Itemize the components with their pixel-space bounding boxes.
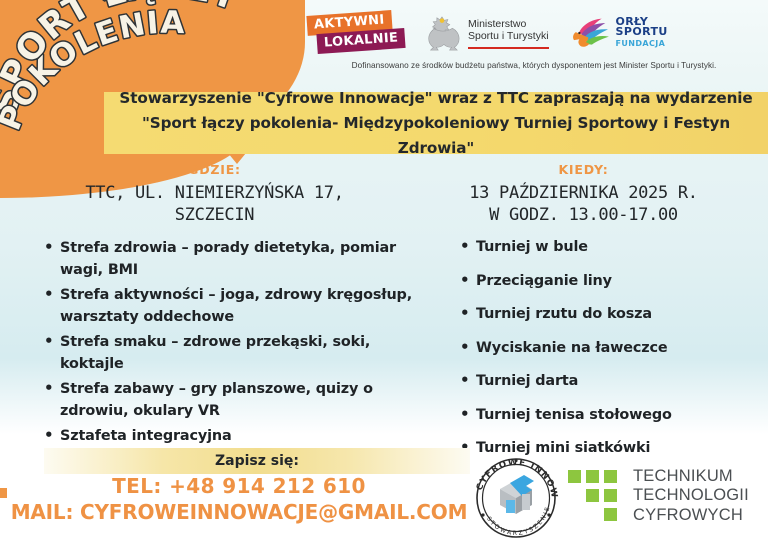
ministry-name: Ministerstwo Sportu i Turystyki xyxy=(468,18,549,49)
where-value: TTC, UL. NIEMIERZYŃSKA 17, SZCZECIN xyxy=(30,182,399,226)
zone-list-item: Sztafeta integracyjna xyxy=(44,426,438,448)
tournament-list-item: Turniej darta xyxy=(460,372,768,391)
colorful-eagle-icon xyxy=(571,16,611,50)
ministry-line-2: Sportu i Turystyki xyxy=(468,30,549,42)
when-value: 13 PAŹDZIERNIKA 2025 R. W GODZ. 13.00-17… xyxy=(399,182,768,226)
poster-canvas: SPORT ŁĄCZY POKOLENIA AKTYWNI LOKALNIE M… xyxy=(0,0,768,543)
footer-logo-row: CYFROWE INNOWACJE STOWARZYSZENIE xyxy=(470,452,768,540)
tournaments-column: Turniej w bulePrzeciąganie linyTurniej r… xyxy=(438,238,768,473)
tournament-list-item: Przeciąganie liny xyxy=(460,272,768,291)
where-line-2: SZCZECIN xyxy=(175,205,254,225)
funding-note: Dofinansowano ze środków budżetu państwa… xyxy=(305,61,763,70)
technikum-line-2: TECHNOLOGII xyxy=(633,486,749,504)
when-line-1: 13 PAŹDZIERNIKA 2025 R. xyxy=(469,183,698,203)
orly-sportu-logo: ORŁY SPORTU FUNDACJA xyxy=(571,16,668,50)
green-squares-icon xyxy=(568,468,624,524)
where-when-row: GDZIE: TTC, UL. NIEMIERZYŃSKA 17, SZCZEC… xyxy=(0,162,768,232)
polish-eagle-emblem-icon xyxy=(423,13,461,53)
tournament-list-item: Turniej w bule xyxy=(460,238,768,257)
contact-phone[interactable]: TEL: +48 914 212 610 xyxy=(0,474,478,499)
when-block: KIEDY: 13 PAŹDZIERNIKA 2025 R. W GODZ. 1… xyxy=(399,162,768,232)
when-label: KIEDY: xyxy=(399,162,768,177)
ministry-logo: Ministerstwo Sportu i Turystyki xyxy=(423,13,549,53)
orly-text-block: ORŁY SPORTU FUNDACJA xyxy=(616,17,668,50)
zone-list-item: Strefa smaku – zdrowe przekąski, soki, k… xyxy=(44,332,438,375)
technikum-line-1: TECHNIKUM xyxy=(633,467,733,485)
zones-column: Strefa zdrowia – porady dietetyka, pomia… xyxy=(0,238,438,473)
orly-line-2: SPORTU xyxy=(616,27,668,38)
technikum-line-3: CYFROWYCH xyxy=(633,506,743,524)
orly-line-3: FUNDACJA xyxy=(616,39,668,50)
tournament-list-item: Wyciskanie na ławeczce xyxy=(460,339,768,358)
where-block: GDZIE: TTC, UL. NIEMIERZYŃSKA 17, SZCZEC… xyxy=(0,162,399,232)
cyfrowe-innowacje-logo-icon: CYFROWE INNOWACJE STOWARZYSZENIE xyxy=(470,453,562,539)
aktywni-lokalnie-logo: AKTYWNI LOKALNIE xyxy=(305,13,401,53)
zones-list: Strefa zdrowia – porady dietetyka, pomia… xyxy=(44,238,438,448)
tournament-list-item: Turniej tenisa stołowego xyxy=(460,406,768,425)
when-line-2: W GODZ. 13.00-17.00 xyxy=(489,205,678,225)
headline-line-2: "Sport łączy pokolenia- Międzypokoleniow… xyxy=(104,111,768,161)
signup-band: Zapisz się: xyxy=(44,448,470,474)
signup-label: Zapisz się: xyxy=(215,453,299,469)
zone-list-item: Strefa zabawy – gry planszowe, quizy o z… xyxy=(44,379,438,422)
zone-list-item: Strefa aktywności – joga, zdrowy kręgosł… xyxy=(44,285,438,328)
contact-block: TEL: +48 914 212 610 MAIL: CYFROWEINNOWA… xyxy=(0,474,478,525)
where-label: GDZIE: xyxy=(30,162,399,177)
tournaments-list: Turniej w bulePrzeciąganie linyTurniej r… xyxy=(460,238,768,458)
headline-line-1: Stowarzyszenie "Cyfrowe Innowacje" wraz … xyxy=(119,86,752,111)
technikum-name: TECHNIKUM TECHNOLOGII CYFROWYCH xyxy=(633,467,749,526)
technikum-logo: TECHNIKUM TECHNOLOGII CYFROWYCH xyxy=(568,467,749,526)
headline-banner: Stowarzyszenie "Cyfrowe Innowacje" wraz … xyxy=(104,92,768,154)
left-accent-bar xyxy=(0,488,7,498)
where-line-1: TTC, UL. NIEMIERZYŃSKA 17, xyxy=(85,183,343,203)
contact-email[interactable]: MAIL: CYFROWEINNOWACJE@GMAIL.COM xyxy=(0,499,478,525)
content-columns: Strefa zdrowia – porady dietetyka, pomia… xyxy=(0,238,768,473)
zone-list-item: Strefa zdrowia – porady dietetyka, pomia… xyxy=(44,238,438,281)
ministry-line-1: Ministerstwo xyxy=(468,18,526,30)
tournament-list-item: Turniej rzutu do kosza xyxy=(460,305,768,324)
sponsor-logo-row: AKTYWNI LOKALNIE Ministerstwo Sportu i T… xyxy=(305,8,765,58)
